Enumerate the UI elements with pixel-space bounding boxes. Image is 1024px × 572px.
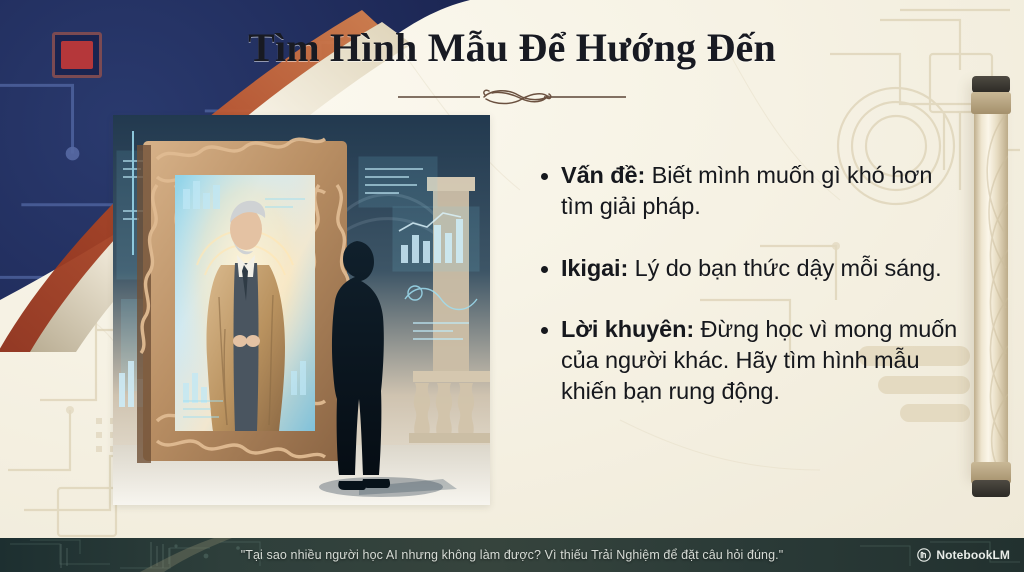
footer-quote: "Tại sao nhiều người học AI nhưng không … xyxy=(0,548,1024,562)
rod-cap-bottom-icon xyxy=(972,480,1010,497)
bullet-dot-icon xyxy=(541,327,548,334)
list-item: Lời khuyên: Đừng học vì mong muốn của ng… xyxy=(541,314,961,408)
bullet-text: Vấn đề: Biết mình muốn gì khó hơn tìm gi… xyxy=(561,160,961,223)
footer-band: "Tại sao nhiều người học AI nhưng không … xyxy=(0,538,1024,572)
slide-illustration xyxy=(113,115,490,505)
bullet-dot-icon xyxy=(541,173,548,180)
notebooklm-badge-label: NotebookLM xyxy=(936,548,1010,562)
slide-root: Tìm Hình Mẫu Để Hướng Đến xyxy=(0,0,1024,572)
rod-band-top xyxy=(971,92,1011,114)
list-item: Vấn đề: Biết mình muốn gì khó hơn tìm gi… xyxy=(541,160,961,223)
bullet-text: Ikigai: Lý do bạn thức dậy mỗi sáng. xyxy=(561,253,942,284)
bullet-label: Vấn đề: xyxy=(561,162,645,188)
ornamental-flourish-divider-icon xyxy=(396,86,628,108)
bullet-dot-icon xyxy=(541,266,548,273)
page-title: Tìm Hình Mẫu Để Hướng Đến xyxy=(0,24,1024,71)
notebooklm-badge: NotebookLM xyxy=(917,548,1010,562)
mirror-mentor-illustration-art xyxy=(113,115,490,505)
notebooklm-logo-icon xyxy=(917,548,931,562)
rod-grain-texture xyxy=(974,82,1008,482)
scroll-rod-decoration xyxy=(974,82,1008,482)
rod-cap-top-icon xyxy=(972,76,1010,93)
list-item: Ikigai: Lý do bạn thức dậy mỗi sáng. xyxy=(541,253,961,284)
bullet-body: Lý do bạn thức dậy mỗi sáng. xyxy=(628,255,941,281)
bullet-label: Lời khuyên: xyxy=(561,316,694,342)
bullet-label: Ikigai: xyxy=(561,255,628,281)
bullet-list: Vấn đề: Biết mình muốn gì khó hơn tìm gi… xyxy=(541,160,961,438)
bullet-text: Lời khuyên: Đừng học vì mong muốn của ng… xyxy=(561,314,961,408)
